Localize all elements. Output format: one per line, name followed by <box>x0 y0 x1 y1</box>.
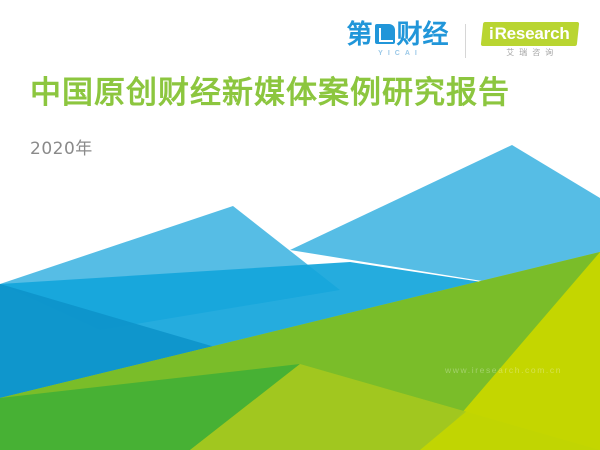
report-title: 中国原创财经新媒体案例研究报告 <box>30 76 510 112</box>
report-cover-slide: www.iresearch.com.cn 第 财经 YICAI i Resear… <box>0 0 600 450</box>
logo-divider <box>465 24 466 58</box>
iresearch-wordmark-inner: i Research <box>489 25 569 42</box>
report-year: 2020年 <box>30 134 510 159</box>
yicai-romanization: YICAI <box>373 50 422 57</box>
iresearch-logo: i Research 艾瑞咨询 <box>482 20 578 57</box>
iresearch-initial-i: i <box>489 25 494 42</box>
yicai-logo: 第 财经 YICAI <box>346 20 448 57</box>
logo-row: 第 财经 YICAI i Research 艾瑞咨询 <box>346 20 578 58</box>
yicai-chars-caijing: 财经 <box>397 22 449 48</box>
yicai-wordmark: 第 财经 <box>346 22 448 48</box>
yicai-char-di: 第 <box>346 22 372 48</box>
iresearch-wordmark: Research <box>494 25 569 42</box>
iresearch-watermark: www.iresearch.com.cn <box>445 365 562 375</box>
iresearch-chinese-name: 艾瑞咨询 <box>501 49 558 57</box>
iresearch-badge: i Research <box>480 22 579 46</box>
yicai-square-icon <box>375 24 395 44</box>
headline-block: 中国原创财经新媒体案例研究报告 2020年 <box>30 76 510 159</box>
geometric-wave-artwork <box>0 0 600 450</box>
